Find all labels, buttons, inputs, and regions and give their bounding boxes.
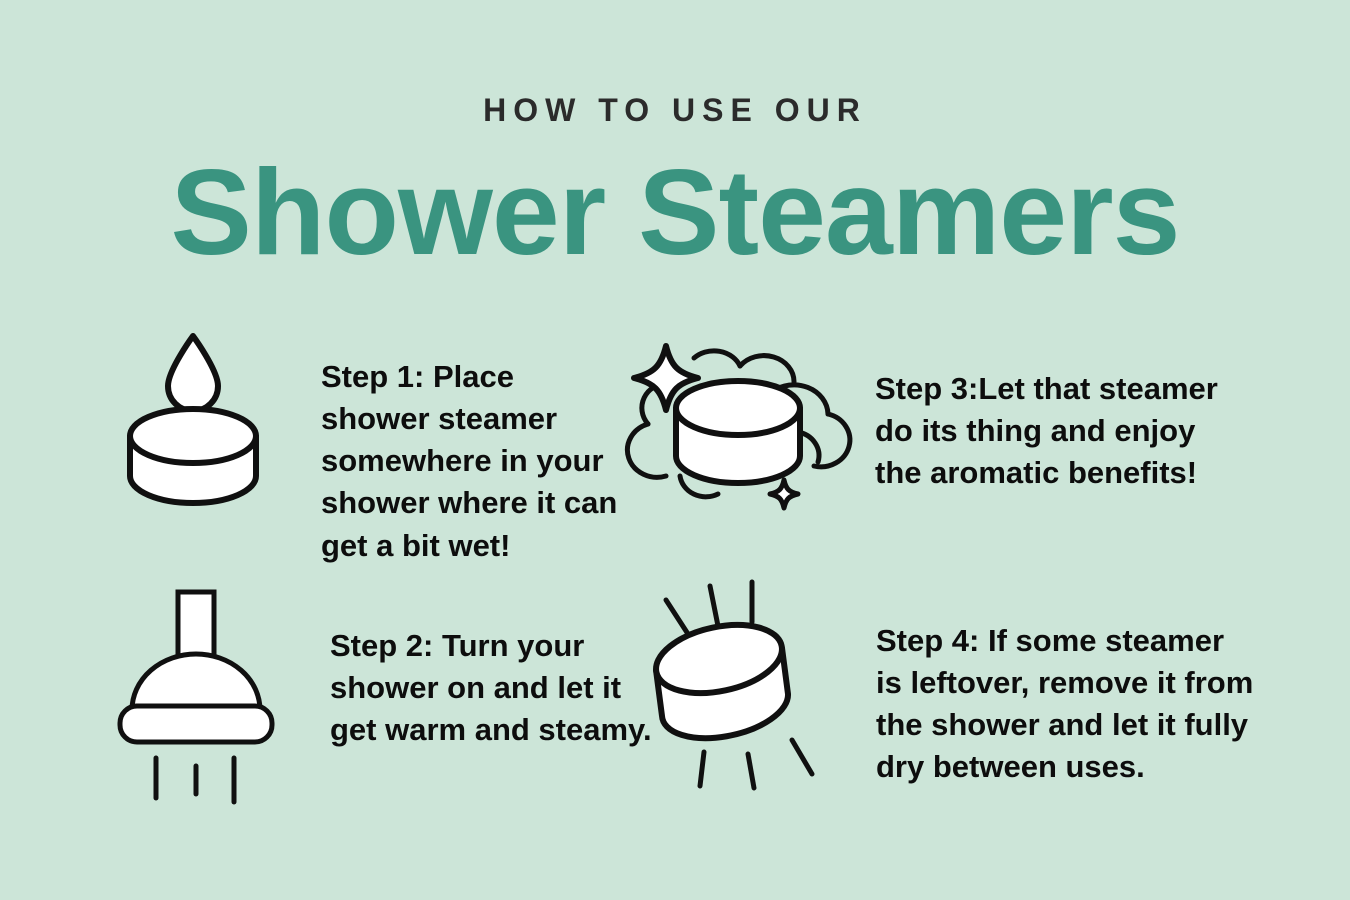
step-item-1: Step 1: Place shower steamer somewhere i… bbox=[118, 318, 631, 567]
eyebrow-heading: HOW TO USE OUR bbox=[0, 94, 1350, 126]
step-item-2: Step 2: Turn your shower on and let it g… bbox=[100, 580, 660, 800]
shower-head-with-water-icon bbox=[100, 580, 300, 800]
page-title: Shower Steamers bbox=[0, 148, 1350, 276]
steamer-puck-with-steam-cloud-and-sparkles-icon bbox=[632, 336, 847, 526]
step-item-4: Step 4: If some steamer is leftover, rem… bbox=[648, 572, 1256, 797]
water-drop-and-steamer-puck-icon bbox=[118, 318, 288, 518]
step-item-3: Step 3:Let that steamer do its thing and… bbox=[632, 336, 1225, 526]
step-description-3: Step 3:Let that steamer do its thing and… bbox=[875, 336, 1225, 494]
shining-steamer-puck-icon bbox=[648, 572, 848, 797]
infographic-poster: HOW TO USE OUR Shower Steamers Step 1: P… bbox=[0, 0, 1350, 900]
step-description-4: Step 4: If some steamer is leftover, rem… bbox=[876, 572, 1256, 789]
step-description-2: Step 2: Turn your shower on and let it g… bbox=[330, 580, 660, 751]
step-description-1: Step 1: Place shower steamer somewhere i… bbox=[321, 318, 631, 567]
